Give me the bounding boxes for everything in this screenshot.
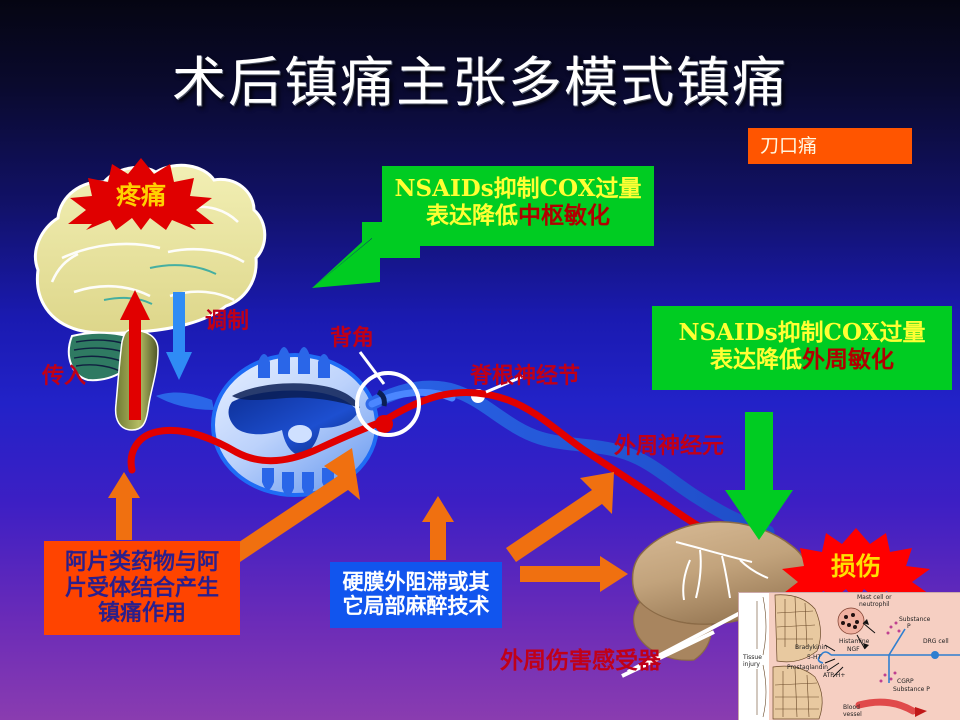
peripheral-nociceptor-label: 外周伤害感受器 (500, 641, 661, 675)
inset-term-prostaglandin: Prostaglandin (787, 665, 828, 671)
inset-term-vessel: vessel (843, 712, 862, 718)
slide-canvas: 术后镇痛主张多模式镇痛 (0, 0, 960, 720)
inset-term-cgrp: CGRP (897, 679, 914, 685)
opioid-line2: 片受体结合产生 (54, 576, 230, 602)
inset-term-substance-p2: Substance P (893, 687, 930, 693)
incision-pain-box[interactable]: 刀口痛 (748, 128, 912, 164)
inset-term-substance-p: Substance (899, 617, 930, 623)
inset-term-neutrophil: neutrophil (859, 602, 890, 608)
injury-burst: 损伤 (776, 528, 936, 602)
nsaid-peripheral-line2-prefix: 表达降低 (710, 346, 802, 373)
inset-term-p: P (907, 624, 911, 630)
nsaid-peripheral-box[interactable]: NSAIDs抑制COX过量 表达降低外周敏化 (652, 306, 952, 390)
nsaid-peripheral-highlight: 外周敏化 (802, 346, 894, 373)
drg-label: 脊根神经节 (470, 358, 580, 390)
inset-term-5ht: 5-HT (807, 655, 821, 661)
afferent-label: 传入 (42, 358, 86, 390)
epidural-box[interactable]: 硬膜外阻滞或其 它局部麻醉技术 (330, 562, 502, 628)
orange-arrow-diagonal-peripheral (506, 472, 614, 562)
nsaid-peripheral-line1: NSAIDs抑制COX过量 (664, 320, 940, 347)
epidural-line2: 它局部麻醉技术 (339, 594, 493, 618)
inset-term-injury: injury (743, 662, 760, 668)
nsaid-central-highlight: 中枢敏化 (518, 202, 610, 229)
opioid-line3: 镇痛作用 (54, 601, 230, 627)
pain-burst-label: 疼痛 (116, 176, 166, 212)
nsaid-central-line2: 表达降低中枢敏化 (394, 203, 642, 230)
peripheral-neuron-label: 外周神经元 (614, 428, 724, 460)
orange-arrow-horizontal-tissue (520, 556, 628, 592)
synapse-node (375, 415, 393, 433)
inset-term-bradykinin: Bradykinin (795, 645, 827, 651)
injury-burst-label: 损伤 (831, 547, 881, 583)
inset-term-drg-cell: DRG cell (923, 639, 949, 645)
orange-arrow-epidural (422, 496, 454, 560)
incision-pain-label: 刀口痛 (760, 135, 817, 157)
opioid-box[interactable]: 阿片类药物与阿 片受体结合产生 镇痛作用 (44, 541, 240, 635)
nsaid-central-box[interactable]: NSAIDs抑制COX过量 表达降低中枢敏化 (382, 166, 654, 246)
tissue-injury-inset-diagram: Mast cell or neutrophil Substance P DRG … (738, 592, 960, 720)
pain-burst: 疼痛 (62, 158, 220, 230)
modulation-label: 调制 (205, 303, 249, 335)
inset-term-ngf: NGF (847, 647, 860, 653)
inset-term-atp-h: ATP H+ (823, 673, 845, 679)
epidural-line1: 硬膜外阻滞或其 (339, 570, 493, 594)
nsaid-central-line2-prefix: 表达降低 (426, 202, 518, 229)
nsaid-peripheral-line2: 表达降低外周敏化 (664, 347, 940, 374)
opioid-line1: 阿片类药物与阿 (54, 550, 230, 576)
orange-arrow-opioid (108, 472, 140, 540)
inset-term-histamine: Histamine (839, 639, 869, 645)
nsaid-central-line1: NSAIDs抑制COX过量 (394, 176, 642, 203)
dorsal-horn-label: 背角 (330, 320, 374, 352)
